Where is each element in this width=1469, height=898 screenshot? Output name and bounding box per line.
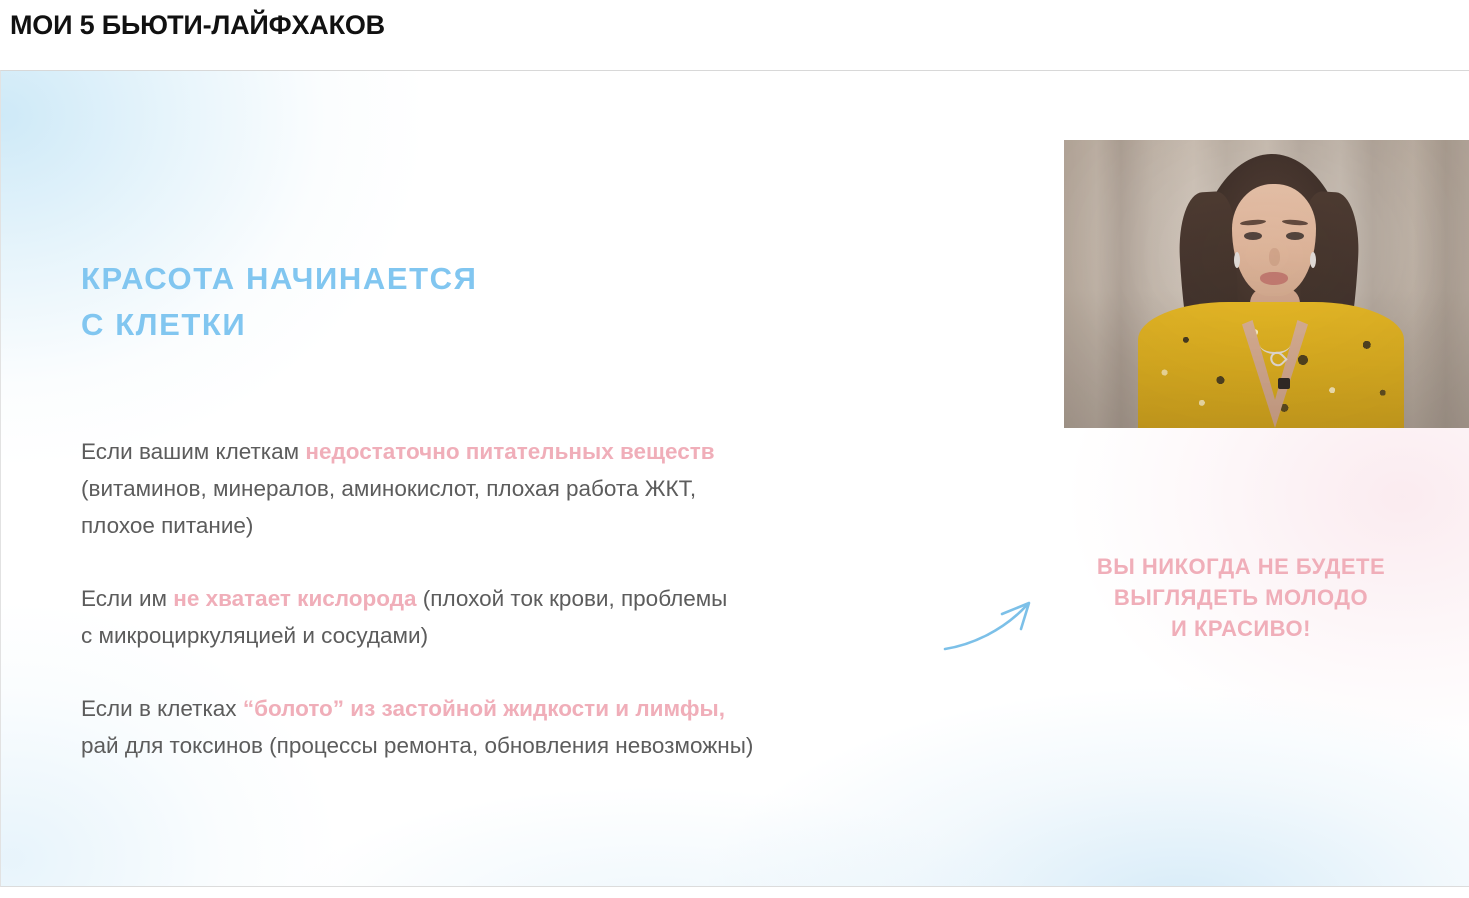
video-scene [1064, 140, 1469, 428]
paragraph-oxygen-lead: Если им [81, 586, 173, 611]
paragraph-swamp-highlight: “болото” из застойной жидкости и лимфы, [243, 696, 725, 721]
paragraph-nutrients: Если вашим клеткам недостаточно питатель… [81, 433, 1041, 544]
paragraph-nutrients-tail: (витаминов, минералов, аминокислот, плох… [81, 476, 696, 538]
slide-body: Если вашим клеткам недостаточно питатель… [81, 433, 1041, 764]
paragraph-oxygen: Если им не хватает кислорода (плохой ток… [81, 580, 1041, 654]
presenter-video-overlay[interactable] [1064, 140, 1469, 428]
paragraph-oxygen-highlight: не хватает кислорода [173, 586, 416, 611]
paragraph-nutrients-lead: Если вашим клеткам [81, 439, 305, 464]
callout-warning-text: ВЫ НИКОГДА НЕ БУДЕТЕ ВЫГЛЯДЕТЬ МОЛОДО И … [1031, 551, 1451, 644]
page-title: МОИ 5 БЬЮТИ-ЛАЙФХАКОВ [10, 6, 385, 44]
paragraph-nutrients-highlight: недостаточно питательных веществ [305, 439, 714, 464]
paragraph-swamp: Если в клетках “болото” из застойной жид… [81, 690, 1041, 764]
paragraph-swamp-tail: рай для токсинов (процессы ремонта, обно… [81, 733, 753, 758]
video-soft-focus-overlay [1064, 140, 1469, 428]
slide-stage[interactable]: КРАСОТА НАЧИНАЕТСЯ С КЛЕТКИ Если вашим к… [0, 70, 1469, 887]
paragraph-swamp-lead: Если в клетках [81, 696, 243, 721]
slide-heading: КРАСОТА НАЧИНАЕТСЯ С КЛЕТКИ [81, 256, 478, 348]
